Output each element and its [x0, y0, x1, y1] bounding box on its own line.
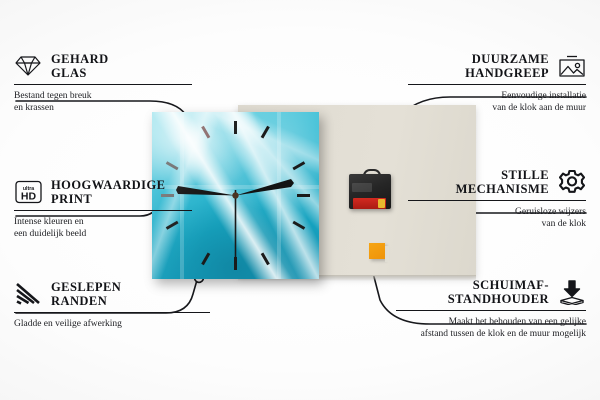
infographic-canvas: GEHARD GLAS Bestand tegen breuk en krass… — [0, 0, 600, 400]
picture-frame-icon — [558, 52, 586, 80]
battery-terminal — [378, 199, 385, 208]
feature-heading: DUURZAME HANDGREEP — [408, 52, 586, 80]
feature-description: Eenvoudige installatie van de klok aan d… — [408, 90, 586, 114]
feature-divider — [14, 84, 192, 85]
feature-heading: SCHUIMAF- STANDHOUDER — [396, 278, 586, 306]
beveled-edges-icon — [14, 280, 42, 308]
feature-divider — [396, 310, 586, 311]
ultra-hd-icon: ultra HD — [14, 178, 42, 206]
feature-description: Maakt het behouden van een gelijke afsta… — [396, 316, 586, 340]
feature-heading: GESLEPEN RANDEN — [14, 280, 210, 308]
feature-title: SCHUIMAF- STANDHOUDER — [448, 278, 549, 306]
feature-title: HOOGWAARDIGE PRINT — [51, 178, 165, 206]
feature-title: DUURZAME HANDGREEP — [465, 52, 549, 80]
feature-description: Bestand tegen breuk en krassen — [14, 90, 192, 114]
feature-heading: STILLE MECHANISME — [408, 168, 586, 196]
feature-divider — [408, 84, 586, 85]
svg-text:HD: HD — [20, 191, 36, 203]
foam-standoff-pad — [369, 243, 385, 259]
mechanism-label — [352, 183, 372, 192]
feature-title: GEHARD GLAS — [51, 52, 109, 80]
feature-stille-mechanisme: STILLE MECHANISME Geruisloze wijzers van… — [408, 168, 586, 230]
feature-divider — [14, 210, 192, 211]
feature-hoogwaardige-print: ultra HD HOOGWAARDIGE PRINT Intense kleu… — [14, 178, 192, 240]
feature-divider — [408, 200, 586, 201]
feature-schuimaf-standhouder: SCHUIMAF- STANDHOUDER Maakt het behouden… — [396, 278, 586, 340]
diamond-icon — [14, 52, 42, 80]
feature-heading: ultra HD HOOGWAARDIGE PRINT — [14, 178, 192, 206]
down-arrow-platform-icon — [558, 278, 586, 306]
mechanism-body — [349, 174, 391, 209]
feature-title: GESLEPEN RANDEN — [51, 280, 121, 308]
feature-duurzame-handgreep: DUURZAME HANDGREEP Eenvoudige installati… — [408, 52, 586, 114]
feature-description: Gladde en veilige afwerking — [14, 318, 210, 330]
feature-geslepen-randen: GESLEPEN RANDEN Gladde en veilige afwerk… — [14, 280, 210, 330]
clock-grid-line — [277, 112, 281, 279]
feature-heading: GEHARD GLAS — [14, 52, 192, 80]
battery — [353, 198, 386, 209]
feature-gehard-glas: GEHARD GLAS Bestand tegen breuk en krass… — [14, 52, 192, 114]
feature-description: Intense kleuren en een duidelijk beeld — [14, 216, 192, 240]
feature-description: Geruisloze wijzers van de klok — [408, 206, 586, 230]
gear-icon — [558, 168, 586, 196]
feature-title: STILLE MECHANISME — [456, 168, 549, 196]
feature-divider — [14, 312, 210, 313]
clock-mechanism — [349, 169, 391, 209]
